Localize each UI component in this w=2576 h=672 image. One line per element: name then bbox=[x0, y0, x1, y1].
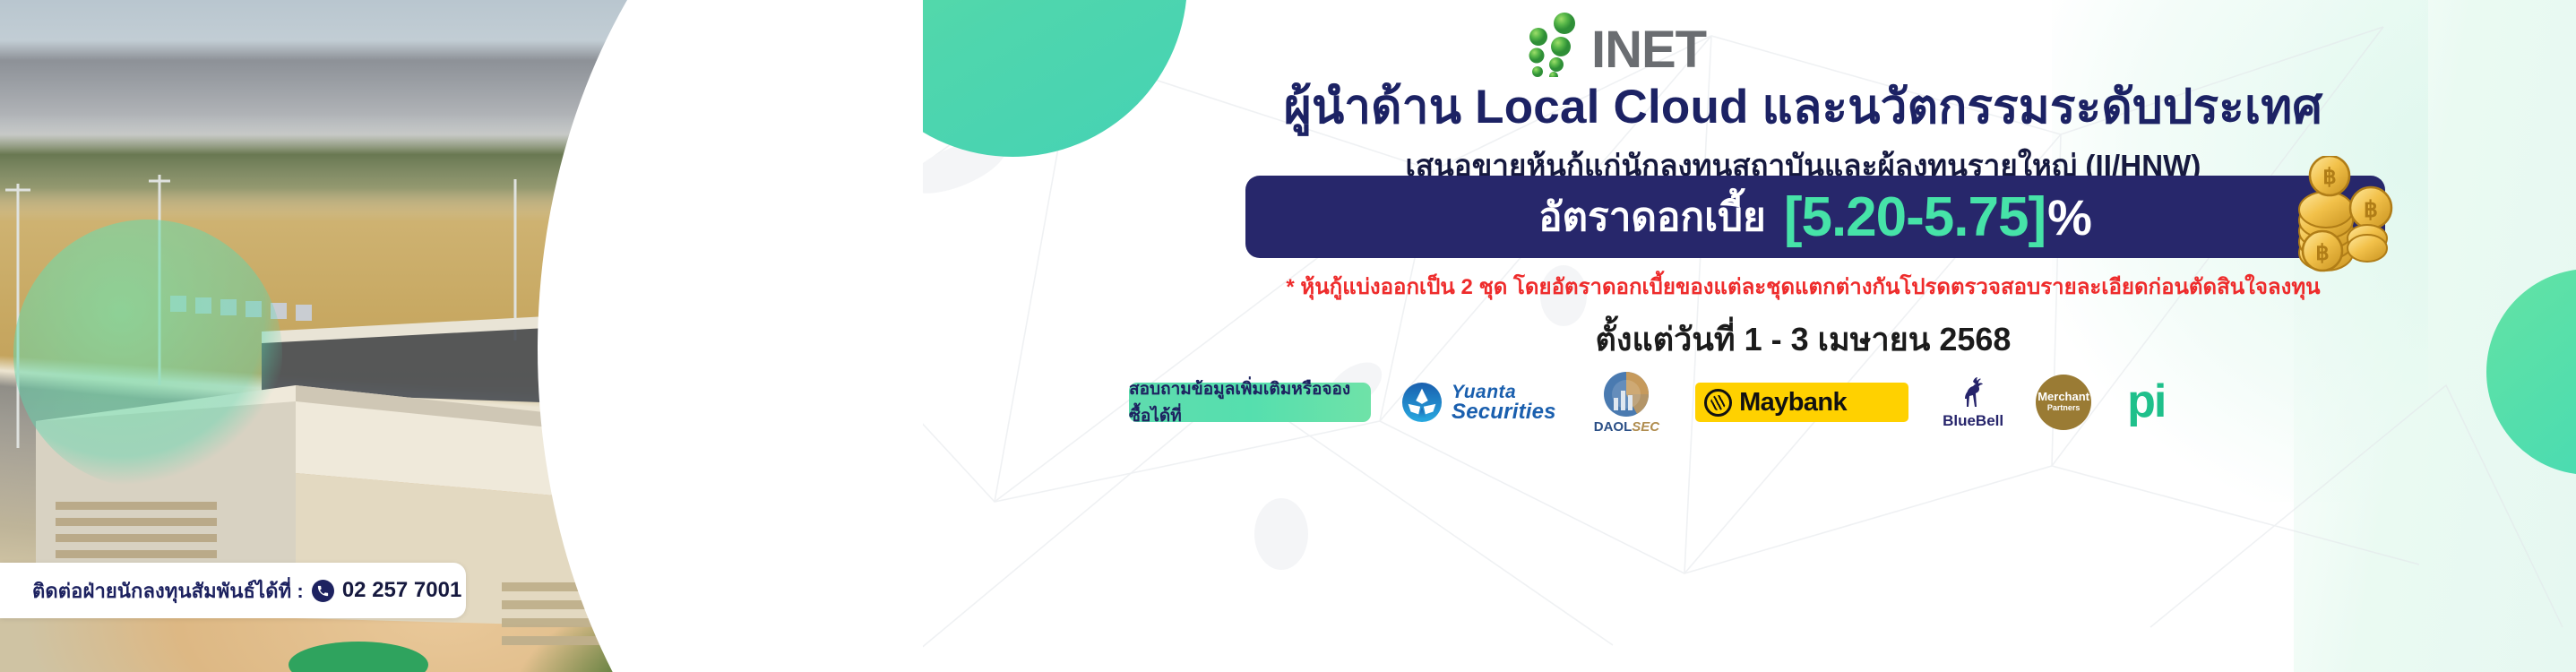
daol-word1: DAOL bbox=[1594, 419, 1633, 435]
partner-logo-bluebell[interactable]: BlueBell bbox=[1943, 375, 2003, 430]
partner-logo-maybank[interactable]: Maybank bbox=[1695, 383, 1908, 422]
inet-dots-logo-icon bbox=[1514, 13, 1597, 77]
inet-wordmark: INET bbox=[1591, 20, 1706, 80]
bluebell-deer-icon bbox=[1955, 375, 1991, 411]
content-column: INET ผู้นำด้าน Local Cloud และนวัตกรรมระ… bbox=[1030, 0, 2576, 672]
offer-dateline: ตั้งแต่วันที่ 1 - 3 เมษายน 2568 bbox=[1030, 314, 2576, 365]
green-circle-overlay-left bbox=[13, 220, 282, 488]
inet-logo: INET bbox=[1514, 13, 1891, 77]
partner-logo-pi[interactable]: pi bbox=[2127, 383, 2165, 421]
contact-card[interactable]: ติดต่อฝ่ายนักลงทุนสัมพันธ์ได้ที่ : 02 25… bbox=[0, 563, 466, 618]
gold-coins-icon: ฿ ฿ ฿ bbox=[2270, 156, 2405, 277]
partner-logo-yuanta[interactable]: Yuanta Securities bbox=[1401, 382, 1556, 423]
daol-pie-icon bbox=[1603, 371, 1650, 418]
maybank-wordmark: Maybank bbox=[1739, 388, 1847, 418]
interest-rate-value: [5.20-5.75] bbox=[1784, 185, 2046, 249]
cta-button[interactable]: สอบถามข้อมูลเพิ่มเติมหรือจองซื้อได้ที่ bbox=[1129, 383, 1371, 422]
cta-label: สอบถามข้อมูลเพิ่มเติมหรือจองซื้อได้ที่ bbox=[1129, 375, 1371, 429]
merchant-line2: Partners bbox=[2047, 402, 2081, 414]
partner-logo-row: สอบถามข้อมูลเพิ่มเติมหรือจองซื้อได้ที่ Y… bbox=[1129, 371, 2576, 434]
partner-logo-merchant-partners[interactable]: Merchant Partners bbox=[2036, 375, 2091, 430]
contact-label: ติดต่อฝ่ายนักลงทุนสัมพันธ์ได้ที่ : bbox=[32, 575, 304, 607]
page-title: ผู้นำด้าน Local Cloud และนวัตกรรมระดับปร… bbox=[1030, 79, 2576, 137]
maybank-tiger-icon bbox=[1704, 389, 1732, 417]
yuanta-line1: Yuanta bbox=[1452, 383, 1556, 401]
merchant-line1: Merchant bbox=[2038, 391, 2089, 402]
svg-text:฿: ฿ bbox=[2364, 198, 2378, 222]
photo-curve-mask bbox=[538, 0, 923, 672]
partner-logo-daol[interactable]: DAOLSEC bbox=[1594, 371, 1659, 435]
footnote-text: * หุ้นกู้แบ่งออกเป็น 2 ชุด โดยอัตราดอกเบ… bbox=[1030, 269, 2576, 304]
interest-rate-box: อัตราดอกเบี้ย [5.20-5.75] % ฿ bbox=[1245, 176, 2385, 258]
yuanta-star-icon bbox=[1401, 382, 1443, 423]
promotional-banner: ติดต่อฝ่ายนักลงทุนสัมพันธ์ได้ที่ : 02 25… bbox=[0, 0, 2576, 672]
yuanta-line2: Securities bbox=[1452, 401, 1556, 423]
daol-word2: SEC bbox=[1632, 419, 1659, 435]
interest-rate-label: อัตราดอกเบี้ย bbox=[1538, 185, 1766, 248]
yuanta-wordmark: Yuanta Securities bbox=[1452, 383, 1556, 423]
svg-text:฿: ฿ bbox=[2322, 166, 2336, 189]
phone-icon bbox=[312, 580, 334, 602]
svg-text:฿: ฿ bbox=[2315, 242, 2329, 265]
daol-wordmark: DAOLSEC bbox=[1594, 419, 1659, 435]
interest-rate-unit: % bbox=[2047, 188, 2092, 246]
contact-phone[interactable]: 02 257 7001 bbox=[342, 578, 461, 603]
bluebell-wordmark: BlueBell bbox=[1943, 412, 2003, 430]
